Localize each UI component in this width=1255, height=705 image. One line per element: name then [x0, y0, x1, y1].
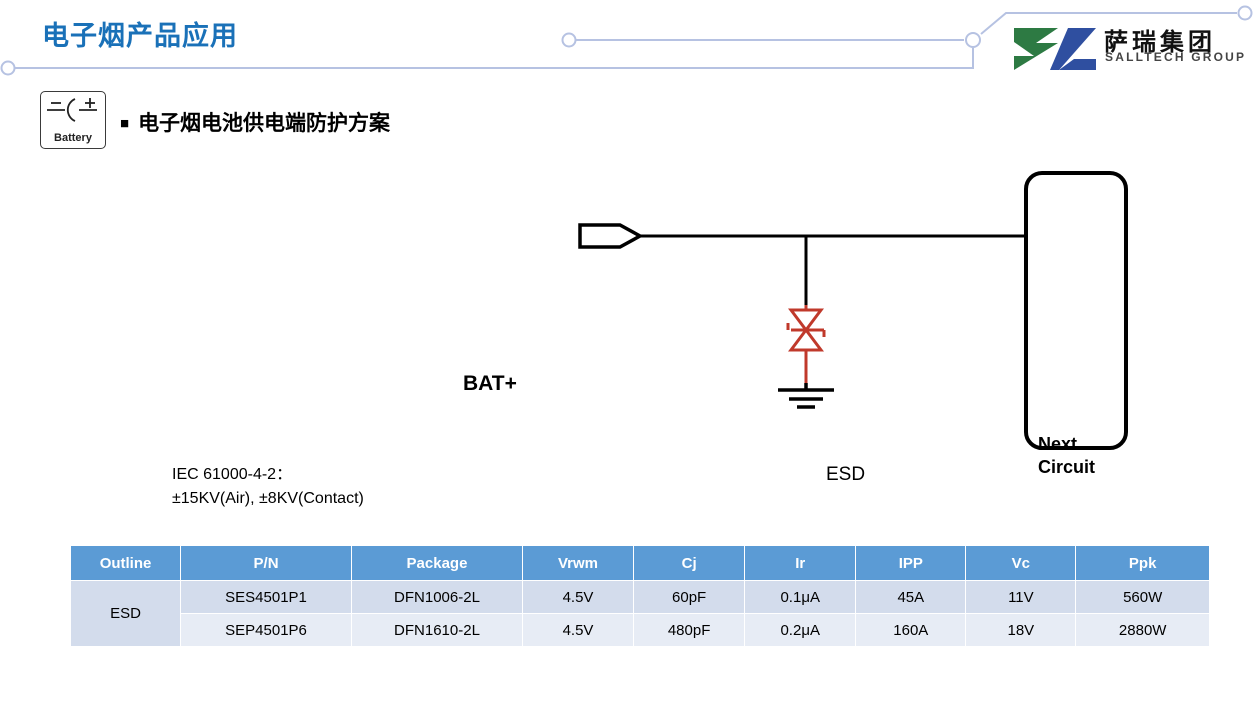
next-circuit-line2: Circuit: [1038, 456, 1095, 479]
esd-diode-symbol: [788, 305, 824, 383]
circuit-diagram: BAT+ ESD GND Next Circuit IEC 61000-4-2：…: [0, 150, 1255, 480]
salltech-logo-mark: [1012, 26, 1098, 72]
decoration-node-right: [1239, 7, 1252, 20]
iec-note-line1: IEC 61000-4-2：: [172, 463, 364, 487]
next-circuit-line1: Next: [1038, 433, 1095, 456]
cell-ipp: 45A: [856, 581, 966, 614]
decoration-node-mid: [563, 34, 576, 47]
cell-vc: 18V: [966, 614, 1076, 647]
col-header-cj: Cj: [634, 546, 745, 581]
cell-ppk: 2880W: [1076, 614, 1210, 647]
cell-ir: 0.2μA: [745, 614, 856, 647]
col-header-pn: P/N: [181, 546, 352, 581]
next-circuit-label: Next Circuit: [1038, 433, 1095, 479]
company-logo: 萨瑞集团 SALLTECH GROUP: [1012, 24, 1244, 74]
iec-note-line2: ±15KV(Air), ±8KV(Contact): [172, 487, 364, 511]
col-header-vc: Vc: [966, 546, 1076, 581]
section-bullet-icon: ■: [120, 115, 129, 132]
ground-symbol-icon: [778, 383, 834, 407]
decoration-node-left: [2, 62, 15, 75]
bat-plus-label: BAT+: [463, 372, 517, 396]
cell-cj: 480pF: [634, 614, 745, 647]
col-header-package: Package: [352, 546, 523, 581]
esd-label: ESD: [826, 464, 865, 486]
cell-pn: SEP4501P6: [181, 614, 352, 647]
bat-connector-shape: [580, 225, 640, 247]
cell-pn: SES4501P1: [181, 581, 352, 614]
cell-outline-group: ESD: [71, 581, 181, 647]
cell-vc: 11V: [966, 581, 1076, 614]
spec-table: Outline P/N Package Vrwm Cj Ir IPP Vc Pp…: [70, 545, 1210, 647]
cell-vrwm: 4.5V: [522, 614, 633, 647]
cell-ppk: 560W: [1076, 581, 1210, 614]
cell-ir: 0.1μA: [745, 581, 856, 614]
battery-icon-label: Battery: [41, 132, 105, 144]
table-row: SEP4501P6 DFN1610-2L 4.5V 480pF 0.2μA 16…: [71, 614, 1210, 647]
cell-package: DFN1006-2L: [352, 581, 523, 614]
circuit-svg: [0, 150, 1255, 480]
table-row: ESD SES4501P1 DFN1006-2L 4.5V 60pF 0.1μA…: [71, 581, 1210, 614]
cell-ipp: 160A: [856, 614, 966, 647]
next-circuit-box: [1026, 173, 1126, 448]
cell-package: DFN1610-2L: [352, 614, 523, 647]
logo-name-en: SALLTECH GROUP: [1105, 50, 1246, 64]
table-header-row: Outline P/N Package Vrwm Cj Ir IPP Vc Pp…: [71, 546, 1210, 581]
col-header-ipp: IPP: [856, 546, 966, 581]
col-header-outline: Outline: [71, 546, 181, 581]
section-heading-text: 电子烟电池供电端防护方案: [138, 112, 390, 135]
col-header-vrwm: Vrwm: [522, 546, 633, 581]
col-header-ppk: Ppk: [1076, 546, 1210, 581]
iec-standard-note: IEC 61000-4-2： ±15KV(Air), ±8KV(Contact): [172, 463, 364, 511]
decoration-node-elbow: [966, 33, 980, 47]
battery-icon: Battery: [40, 91, 106, 149]
battery-symbol-icon: [41, 92, 103, 128]
section-heading: ■电子烟电池供电端防护方案: [120, 107, 390, 137]
cell-vrwm: 4.5V: [522, 581, 633, 614]
slide-root: 电子烟产品应用 萨瑞集团 SALLTECH GROUP Battery ■电子烟…: [0, 0, 1255, 705]
page-title: 电子烟产品应用: [42, 14, 238, 53]
cell-cj: 60pF: [634, 581, 745, 614]
col-header-ir: Ir: [745, 546, 856, 581]
